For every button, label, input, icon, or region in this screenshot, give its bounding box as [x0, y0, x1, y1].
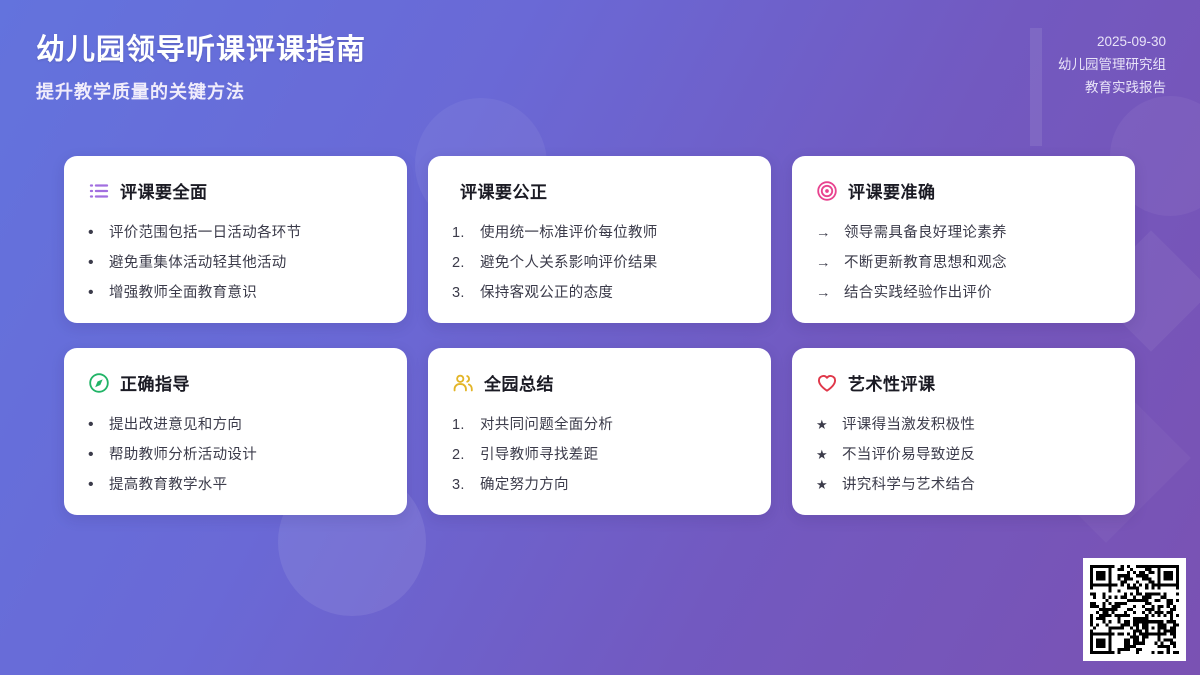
list-item: •提出改进意见和方向	[88, 410, 383, 440]
list-marker: ★	[816, 410, 833, 440]
card-title: 评课要公正	[460, 178, 548, 203]
list-marker: •	[88, 410, 100, 440]
list-marker: 3.	[452, 278, 471, 308]
list-marker: •	[88, 218, 100, 248]
info-card: 正确指导•提出改进意见和方向•帮助教师分析活动设计•提高教育教学水平	[64, 348, 407, 515]
card-title: 评课要全面	[120, 178, 208, 203]
card-header: 正确指导	[88, 370, 383, 395]
list-item: 2.引导教师寻找差距	[452, 440, 747, 470]
list-item-text: 不当评价易导致逆反	[842, 440, 975, 470]
meta-doc-type: 教育实践报告	[1058, 76, 1166, 99]
list-item: 3.保持客观公正的态度	[452, 278, 747, 308]
list-marker: 2.	[452, 248, 471, 278]
list-marker: 1.	[452, 410, 471, 440]
list-item: 2.避免个人关系影响评价结果	[452, 248, 747, 278]
page-title: 幼儿园领导听课评课指南	[36, 26, 366, 68]
list-icon	[88, 180, 110, 202]
card-grid: 评课要全面•评价范围包括一日活动各环节•避免重集体活动轻其他活动•增强教师全面教…	[64, 156, 1136, 515]
list-item: →结合实践经验作出评价	[816, 278, 1111, 308]
list-item-text: 使用统一标准评价每位教师	[480, 218, 658, 248]
list-marker: →	[816, 278, 835, 308]
list-item-text: 保持客观公正的态度	[480, 278, 613, 308]
qr-code[interactable]	[1083, 558, 1186, 661]
list-item: 1.对共同问题全面分析	[452, 410, 747, 440]
list-item-text: 评课得当激发积极性	[842, 410, 975, 440]
list-item-text: 增强教师全面教育意识	[109, 278, 257, 308]
list-item: •帮助教师分析活动设计	[88, 440, 383, 470]
list-marker: 1.	[452, 218, 471, 248]
list-marker: →	[816, 248, 835, 278]
card-list: 1.对共同问题全面分析2.引导教师寻找差距3.确定努力方向	[452, 410, 747, 500]
info-card: 艺术性评课★评课得当激发积极性★不当评价易导致逆反★讲究科学与艺术结合	[792, 348, 1135, 515]
list-item: 1.使用统一标准评价每位教师	[452, 218, 747, 248]
card-list: •评价范围包括一日活动各环节•避免重集体活动轻其他活动•增强教师全面教育意识	[88, 218, 383, 308]
list-item-text: 引导教师寻找差距	[480, 440, 598, 470]
list-item: •提高教育教学水平	[88, 470, 383, 500]
list-item: •评价范围包括一日活动各环节	[88, 218, 383, 248]
list-item: ★不当评价易导致逆反	[816, 440, 1111, 470]
card-title: 评课要准确	[848, 178, 936, 203]
list-item-text: 提高教育教学水平	[109, 470, 227, 500]
list-marker: →	[816, 218, 835, 248]
compass-icon	[88, 372, 110, 394]
list-item-text: 讲究科学与艺术结合	[842, 470, 975, 500]
list-marker: 2.	[452, 440, 471, 470]
slide-root: 幼儿园领导听课评课指南 提升教学质量的关键方法 2025-09-30 幼儿园管理…	[0, 0, 1200, 675]
info-card: 评课要全面•评价范围包括一日活动各环节•避免重集体活动轻其他活动•增强教师全面教…	[64, 156, 407, 323]
list-item-text: 避免重集体活动轻其他活动	[109, 248, 287, 278]
list-item-text: 避免个人关系影响评价结果	[480, 248, 658, 278]
list-item: •避免重集体活动轻其他活动	[88, 248, 383, 278]
meta-date: 2025-09-30	[1058, 30, 1166, 53]
page-subtitle: 提升教学质量的关键方法	[36, 78, 245, 104]
list-item: •增强教师全面教育意识	[88, 278, 383, 308]
list-item-text: 评价范围包括一日活动各环节	[109, 218, 301, 248]
list-item-text: 确定努力方向	[480, 470, 569, 500]
list-item-text: 结合实践经验作出评价	[844, 278, 992, 308]
list-item: →不断更新教育思想和观念	[816, 248, 1111, 278]
list-marker: •	[88, 470, 100, 500]
card-list: ★评课得当激发积极性★不当评价易导致逆反★讲究科学与艺术结合	[816, 410, 1111, 500]
list-marker: •	[88, 278, 100, 308]
card-header: 评课要公正	[452, 178, 747, 203]
slide-header: 幼儿园领导听课评课指南 提升教学质量的关键方法 2025-09-30 幼儿园管理…	[0, 0, 1200, 132]
list-item: ★评课得当激发积极性	[816, 410, 1111, 440]
card-list: 1.使用统一标准评价每位教师2.避免个人关系影响评价结果3.保持客观公正的态度	[452, 218, 747, 308]
heart-icon	[816, 372, 838, 394]
list-item-text: 对共同问题全面分析	[480, 410, 613, 440]
list-marker: 3.	[452, 470, 471, 500]
card-title: 全园总结	[484, 370, 554, 395]
list-item: →领导需具备良好理论素养	[816, 218, 1111, 248]
list-marker: •	[88, 248, 100, 278]
card-title: 正确指导	[120, 370, 190, 395]
list-marker: ★	[816, 470, 833, 500]
header-meta: 2025-09-30 幼儿园管理研究组 教育实践报告	[1058, 30, 1166, 99]
list-item-text: 提出改进意见和方向	[109, 410, 242, 440]
card-header: 全园总结	[452, 370, 747, 395]
list-item-text: 领导需具备良好理论素养	[844, 218, 1007, 248]
info-card: 评课要准确→领导需具备良好理论素养→不断更新教育思想和观念→结合实践经验作出评价	[792, 156, 1135, 323]
list-item: ★讲究科学与艺术结合	[816, 470, 1111, 500]
list-item-text: 帮助教师分析活动设计	[109, 440, 257, 470]
users-icon	[452, 372, 474, 394]
card-list: •提出改进意见和方向•帮助教师分析活动设计•提高教育教学水平	[88, 410, 383, 500]
card-list: →领导需具备良好理论素养→不断更新教育思想和观念→结合实践经验作出评价	[816, 218, 1111, 308]
info-card: 全园总结1.对共同问题全面分析2.引导教师寻找差距3.确定努力方向	[428, 348, 771, 515]
qr-code-image	[1090, 565, 1179, 654]
card-title: 艺术性评课	[848, 370, 936, 395]
card-header: 艺术性评课	[816, 370, 1111, 395]
info-card: 评课要公正1.使用统一标准评价每位教师2.避免个人关系影响评价结果3.保持客观公…	[428, 156, 771, 323]
target-icon	[816, 180, 838, 202]
card-header: 评课要准确	[816, 178, 1111, 203]
list-item-text: 不断更新教育思想和观念	[844, 248, 1007, 278]
card-header: 评课要全面	[88, 178, 383, 203]
meta-org: 幼儿园管理研究组	[1058, 53, 1166, 76]
list-marker: •	[88, 440, 100, 470]
list-marker: ★	[816, 440, 833, 470]
list-item: 3.确定努力方向	[452, 470, 747, 500]
